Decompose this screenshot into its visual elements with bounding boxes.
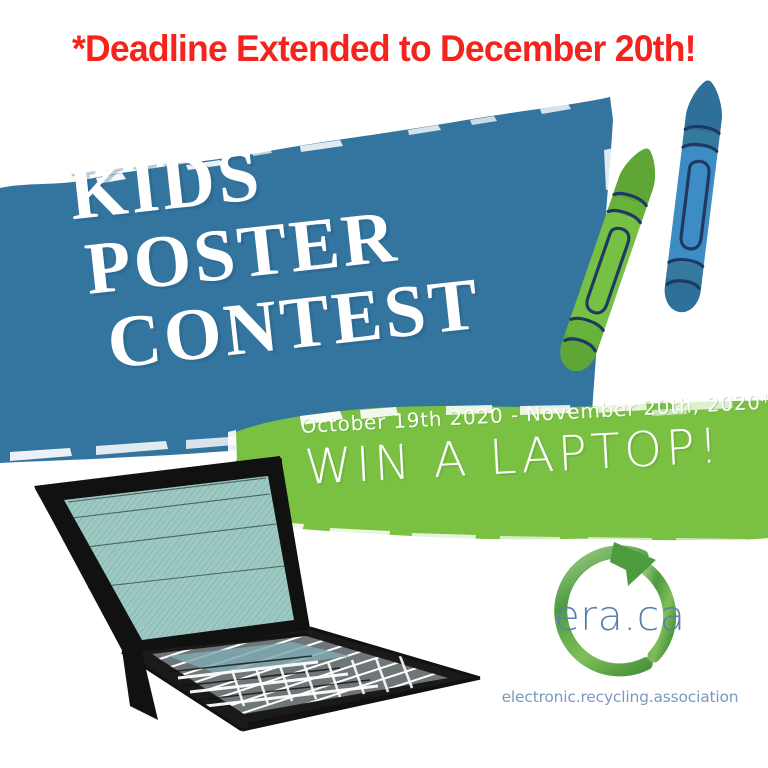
era-tagline: electronic.recycling.association	[478, 688, 762, 706]
deadline-banner: *Deadline Extended to December 20th!	[0, 20, 768, 78]
poster-canvas: *Deadline Extended to December 20th! KID…	[0, 0, 768, 768]
era-wordmark: era.ca	[478, 592, 762, 640]
recycle-arrow-icon: era.ca	[478, 536, 762, 686]
blue-crayon	[648, 78, 768, 333]
laptop-illustration	[18, 438, 518, 743]
page-title: KIDS POSTER CONTEST	[62, 119, 484, 381]
deadline-text: *Deadline Extended to December 20th!	[72, 28, 696, 70]
era-logo[interactable]: era.ca electronic.recycling.association	[478, 536, 762, 706]
